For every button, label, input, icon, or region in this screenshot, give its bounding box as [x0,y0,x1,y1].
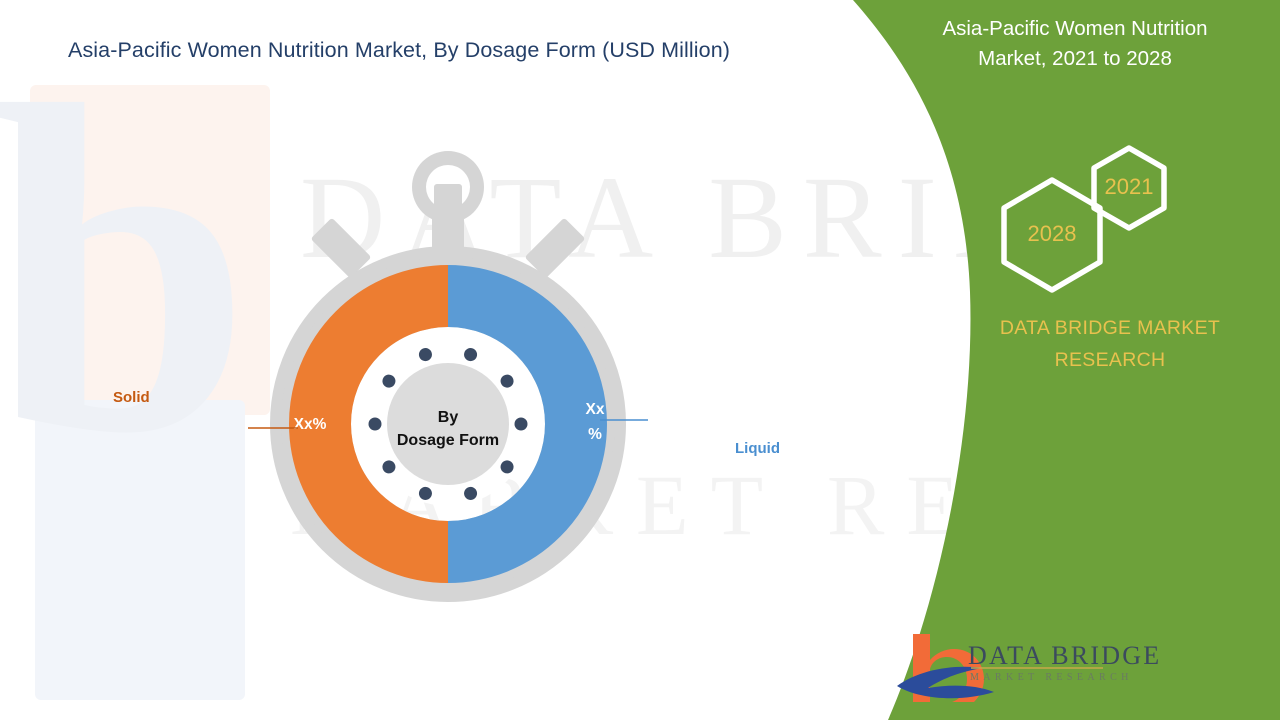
panel-brand-line2: RESEARCH [955,344,1265,376]
logo-sub-text: MARKET RESEARCH [970,672,1133,683]
infographic-canvas: b DATA BRIDGE MARKET RESEARCH Asia-Pacif… [0,0,1280,720]
hexagon-2021-label: 2021 [1094,174,1164,200]
panel-brand-text: DATA BRIDGE MARKET RESEARCH [955,312,1265,376]
panel-title: Asia-Pacific Women Nutrition Market, 202… [905,14,1245,74]
panel-title-line1: Asia-Pacific Women Nutrition [905,14,1245,44]
panel-title-line2: Market, 2021 to 2028 [905,44,1245,74]
hexagon-2028-label: 2028 [1016,221,1088,247]
logo-main-text: DATA BRIDGE [968,641,1161,671]
panel-brand-line1: DATA BRIDGE MARKET [955,312,1265,344]
